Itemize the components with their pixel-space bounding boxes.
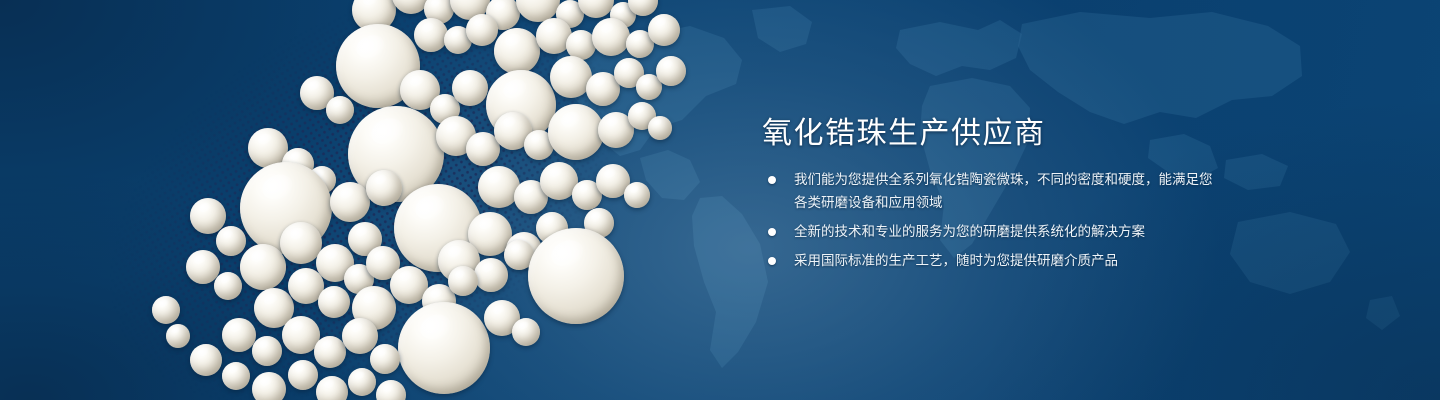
list-item-label: 我们能为您提供全系列氧化锆陶瓷微珠，不同的密度和硬度，能满足您各类研磨设备和应用… <box>794 172 1213 210</box>
bullet-dot-icon <box>768 228 776 236</box>
banner-text-block: 氧化锆珠生产供应商 我们能为您提供全系列氧化锆陶瓷微珠，不同的密度和硬度，能满足… <box>762 0 1362 400</box>
list-item: 我们能为您提供全系列氧化锆陶瓷微珠，不同的密度和硬度，能满足您各类研磨设备和应用… <box>766 168 1214 214</box>
list-item: 采用国际标准的生产工艺，随时为您提供研磨介质产品 <box>766 249 1214 272</box>
zirconia-bead-cluster-image <box>0 0 760 400</box>
feature-list: 我们能为您提供全系列氧化锆陶瓷微珠，不同的密度和硬度，能满足您各类研磨设备和应用… <box>766 168 1214 278</box>
list-item: 全新的技术和专业的服务为您的研磨提供系统化的解决方案 <box>766 220 1214 243</box>
page-title: 氧化锆珠生产供应商 <box>762 108 1046 152</box>
hero-banner: 氧化锆珠生产供应商 我们能为您提供全系列氧化锆陶瓷微珠，不同的密度和硬度，能满足… <box>0 0 1440 400</box>
bullet-dot-icon <box>768 176 776 184</box>
list-item-label: 采用国际标准的生产工艺，随时为您提供研磨介质产品 <box>794 253 1118 268</box>
bullet-dot-icon <box>768 257 776 265</box>
list-item-label: 全新的技术和专业的服务为您的研磨提供系统化的解决方案 <box>794 224 1145 239</box>
